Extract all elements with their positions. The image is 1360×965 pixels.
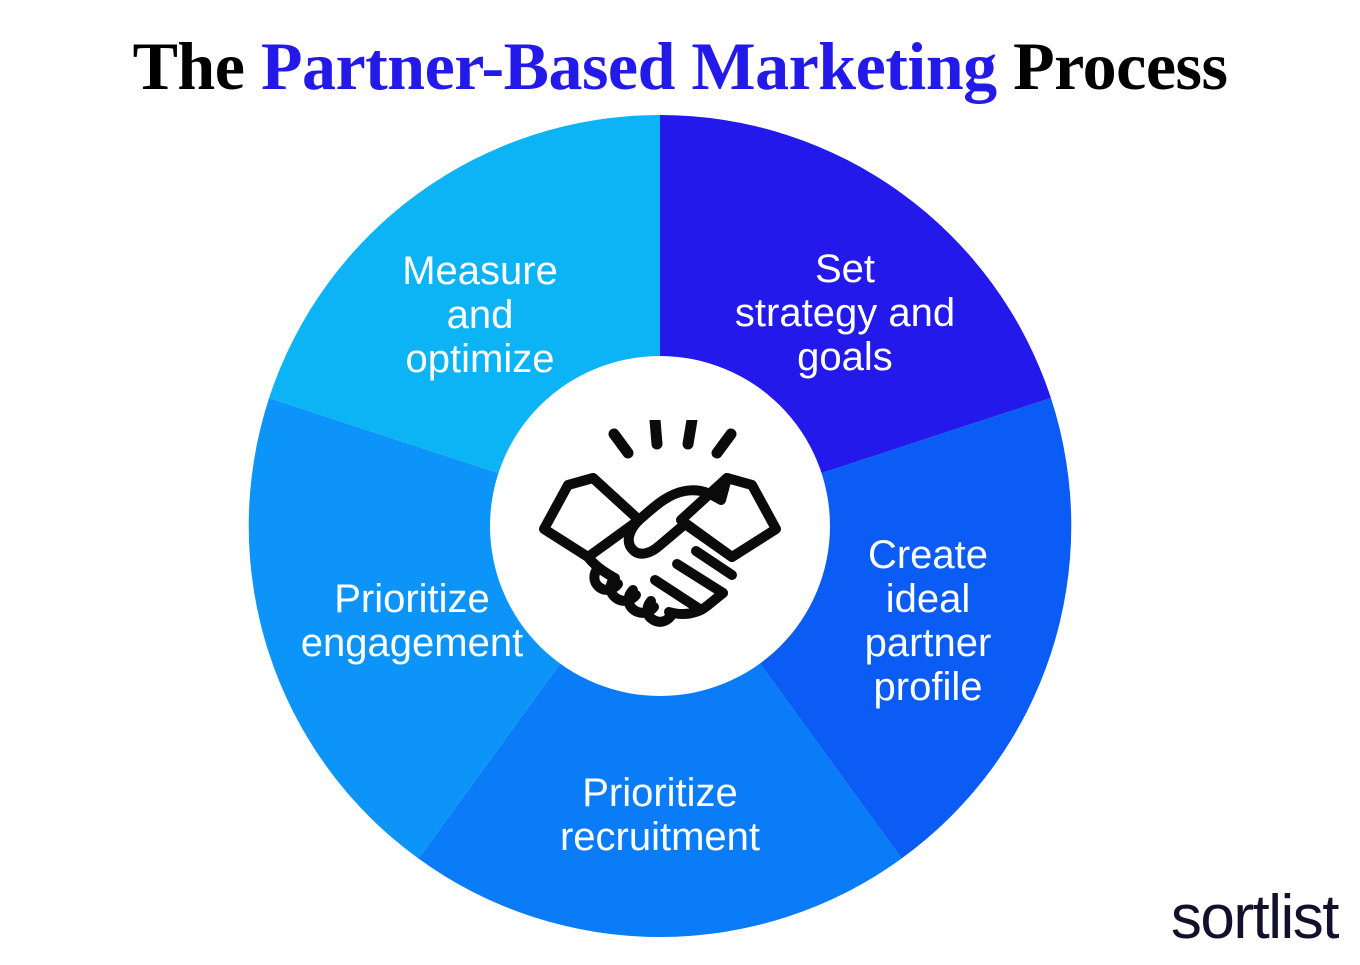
pie-center-hub (490, 356, 830, 696)
process-pie-chart: Set strategy and goals Create ideal part… (248, 115, 1072, 939)
sortlist-logo: sortlist (1171, 885, 1338, 951)
page-title: The Partner-Based Marketing Process (0, 26, 1360, 106)
page-title-lead: The (133, 28, 261, 104)
page-title-trail: Process (997, 28, 1228, 104)
page-title-accent: Partner-Based Marketing (261, 28, 997, 104)
handshake-icon (535, 420, 785, 632)
